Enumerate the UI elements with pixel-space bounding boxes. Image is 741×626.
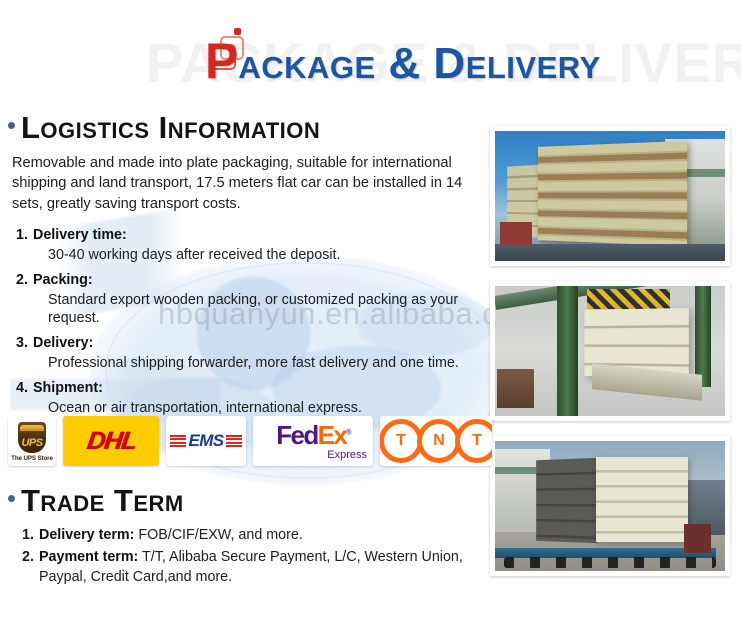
fedex-tagline: Express bbox=[327, 449, 367, 461]
logistics-heading-text: Logistics Information bbox=[21, 112, 320, 145]
list-item-label: Delivery: bbox=[33, 334, 93, 353]
ems-stripes-icon-right bbox=[226, 435, 242, 448]
fedex-logo: FedEx® Express bbox=[253, 416, 373, 466]
list-item: 2. Packing: bbox=[16, 271, 480, 290]
bullet-icon bbox=[8, 122, 15, 129]
logistics-section-heading: Logistics Information bbox=[0, 112, 480, 145]
ups-logo: UPS The UPS Store bbox=[8, 416, 56, 466]
list-item-body: Delivery term: FOB/CIF/EXW, and more. bbox=[39, 526, 469, 546]
list-item-detail: Ocean or air transportation, internation… bbox=[48, 399, 480, 417]
page-title-initial: P bbox=[205, 33, 238, 89]
container-stack-light bbox=[596, 457, 688, 543]
background-truck bbox=[684, 524, 712, 553]
ems-stripes-icon bbox=[170, 435, 186, 448]
crane-column-right bbox=[695, 286, 711, 387]
list-item: 3. Delivery: bbox=[16, 334, 480, 353]
tnt-rings-icon: T N T bbox=[380, 419, 492, 463]
carrier-logo-strip: UPS The UPS Store DHL EMS FedEx® Express… bbox=[8, 416, 492, 466]
container-stack-dark bbox=[536, 458, 598, 544]
list-item-detail: Professional shipping forwarder, more fa… bbox=[48, 354, 480, 372]
list-item: 1. Delivery term: FOB/CIF/EXW, and more. bbox=[22, 526, 480, 546]
ups-band-icon bbox=[20, 425, 44, 431]
list-item-detail: Standard export wooden packing, or custo… bbox=[48, 291, 480, 327]
photo-crates-on-trailer bbox=[495, 131, 725, 261]
photo-frame-3 bbox=[490, 436, 730, 576]
fedex-wordmark-fed: Fed bbox=[276, 420, 317, 450]
trailer-bed bbox=[495, 244, 725, 261]
list-item-index: 2. bbox=[16, 271, 33, 290]
tnt-letter-3: T bbox=[455, 419, 492, 463]
trade-term-section: Trade Term 1. Delivery term: FOB/CIF/EXW… bbox=[0, 485, 480, 587]
dhl-wordmark: DHL bbox=[85, 427, 137, 456]
photo-frame-1 bbox=[490, 126, 730, 266]
list-item-label: Packing: bbox=[33, 271, 93, 290]
list-item-index: 1. bbox=[16, 226, 33, 245]
ups-tagline: The UPS Store bbox=[11, 455, 53, 462]
list-item-index: 3. bbox=[16, 334, 33, 353]
left-content-column: Logistics Information Removable and made… bbox=[0, 112, 480, 424]
ups-wordmark: UPS bbox=[21, 437, 42, 449]
list-item-index: 2. bbox=[22, 548, 39, 587]
list-item: 1. Delivery time: bbox=[16, 226, 480, 245]
trailer-wheels bbox=[504, 557, 716, 569]
product-photo-column bbox=[490, 126, 730, 591]
page-header: PACKAGE & DELIVERY Package & Delivery bbox=[0, 0, 741, 112]
list-item-index: 1. bbox=[22, 526, 39, 546]
list-item-detail: 30-40 working days after received the de… bbox=[48, 246, 480, 264]
list-item-value: FOB/CIF/EXW, and more. bbox=[138, 527, 302, 543]
list-item-label: Shipment: bbox=[33, 379, 103, 398]
dhl-logo: DHL bbox=[63, 416, 159, 466]
list-item: 2. Payment term: T/T, Alibaba Secure Pay… bbox=[22, 548, 480, 587]
photo-frame-2 bbox=[490, 281, 730, 421]
ems-mark: EMS bbox=[170, 431, 241, 451]
logistics-list: 1. Delivery time: 30-40 working days aft… bbox=[16, 226, 480, 417]
container-stack-main bbox=[538, 141, 687, 246]
page-title-rest: ackage & Delivery bbox=[238, 39, 600, 88]
bullet-icon bbox=[8, 495, 15, 502]
ups-shield-icon: UPS bbox=[18, 422, 46, 453]
registered-mark-icon: ® bbox=[346, 429, 350, 436]
crane-spreader bbox=[587, 289, 670, 310]
logistics-paragraph: Removable and made into plate packaging,… bbox=[12, 153, 464, 215]
list-item-label: Payment term: bbox=[39, 549, 138, 565]
list-item: 4. Shipment: bbox=[16, 379, 480, 398]
photo-crane-lifting-containers bbox=[495, 286, 725, 416]
ems-wordmark: EMS bbox=[188, 431, 223, 451]
list-item-label: Delivery term: bbox=[39, 527, 134, 543]
truck-cab bbox=[500, 222, 532, 245]
trade-term-heading: Trade Term bbox=[0, 485, 480, 518]
fedex-wordmark: FedEx® bbox=[276, 422, 350, 448]
ground-crate bbox=[497, 369, 534, 408]
ems-logo: EMS bbox=[166, 416, 246, 466]
list-item-index: 4. bbox=[16, 379, 33, 398]
fedex-wordmark-ex: Ex bbox=[318, 420, 347, 450]
photo-loaded-flatbed-trailer bbox=[495, 441, 725, 571]
trade-term-list: 1. Delivery term: FOB/CIF/EXW, and more.… bbox=[22, 526, 480, 588]
crane-column-left bbox=[557, 286, 578, 416]
tnt-logo: T N T bbox=[380, 416, 492, 466]
list-item-body: Payment term: T/T, Alibaba Secure Paymen… bbox=[39, 548, 469, 587]
trade-term-heading-text: Trade Term bbox=[21, 485, 184, 518]
list-item-label: Delivery time: bbox=[33, 226, 127, 245]
page-title: Package & Delivery bbox=[205, 36, 601, 86]
